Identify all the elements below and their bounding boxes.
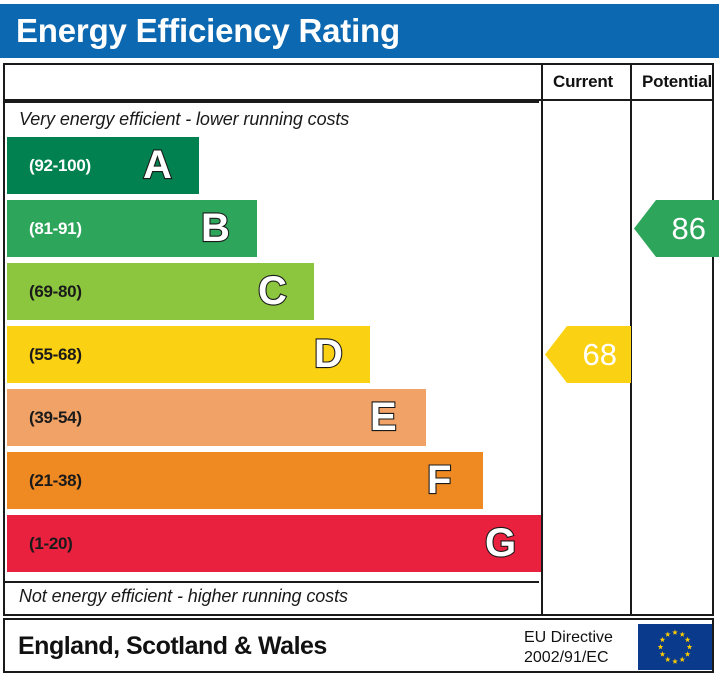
column-header-current: Current: [553, 72, 613, 92]
footer-directive: EU Directive 2002/91/EC: [524, 628, 613, 668]
eu-flag-icon: [638, 624, 712, 670]
potential-rating-marker: 86: [634, 200, 719, 257]
band-list: (92-100) A (81-91) B (69-80) C (55-68) D…: [7, 137, 541, 581]
band-d: (55-68) D: [7, 326, 370, 383]
title-banner: Energy Efficiency Rating: [0, 4, 719, 58]
band-f: (21-38) F: [7, 452, 483, 509]
band-c-range: (69-80): [29, 282, 82, 302]
page-title: Energy Efficiency Rating: [16, 13, 400, 49]
band-g: (1-20) G: [7, 515, 541, 572]
band-g-range: (1-20): [29, 534, 73, 554]
current-rating-value: 68: [583, 338, 631, 372]
band-b-letter: B: [201, 208, 230, 248]
directive-line-1: EU Directive: [524, 628, 613, 648]
band-b: (81-91) B: [7, 200, 257, 257]
band-g-letter: G: [485, 523, 516, 563]
epc-energy-efficiency-chart: Energy Efficiency Rating Current Potenti…: [0, 0, 719, 676]
footer-bar: England, Scotland & Wales EU Directive 2…: [3, 618, 714, 673]
band-b-range: (81-91): [29, 219, 82, 239]
ratings-table: Current Potential Very energy efficient …: [3, 63, 714, 616]
band-d-range: (55-68): [29, 345, 82, 365]
band-f-range: (21-38): [29, 471, 82, 491]
column-divider-current: [541, 65, 543, 614]
directive-line-2: 2002/91/EC: [524, 648, 613, 668]
caption-not-efficient: Not energy efficient - higher running co…: [19, 586, 348, 607]
potential-rating-value: 86: [672, 212, 719, 246]
caption-divider-top: [5, 101, 539, 103]
band-e-range: (39-54): [29, 408, 82, 428]
band-a-range: (92-100): [29, 156, 91, 176]
band-a: (92-100) A: [7, 137, 199, 194]
band-f-letter: F: [427, 460, 451, 500]
band-e-letter: E: [370, 397, 397, 437]
band-c: (69-80) C: [7, 263, 314, 320]
band-e: (39-54) E: [7, 389, 426, 446]
band-a-letter: A: [143, 145, 172, 185]
current-rating-marker: 68: [545, 326, 631, 383]
band-c-letter: C: [258, 271, 287, 311]
footer-region-label: England, Scotland & Wales: [18, 632, 327, 661]
caption-divider-bottom: [5, 581, 539, 583]
column-header-potential: Potential: [642, 72, 712, 92]
caption-very-efficient: Very energy efficient - lower running co…: [19, 109, 349, 130]
band-d-letter: D: [314, 334, 343, 374]
